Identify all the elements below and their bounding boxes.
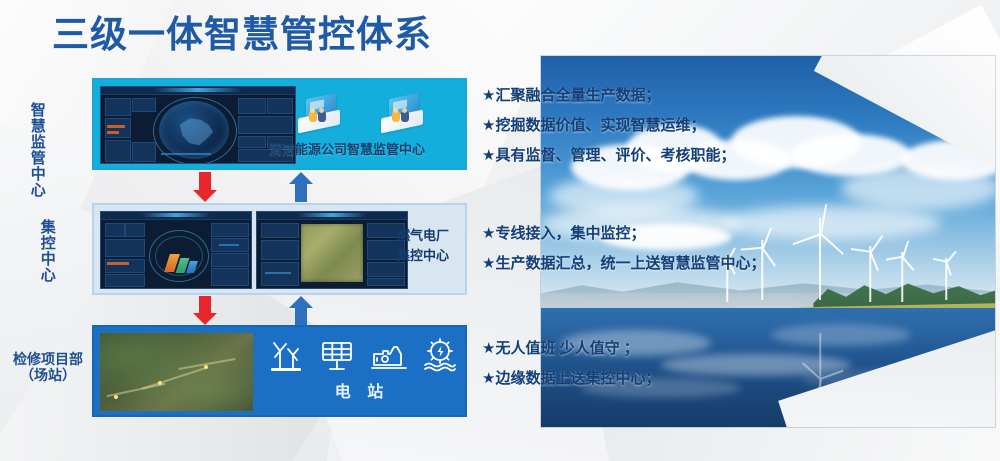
operator-workstation-illustration — [296, 96, 342, 130]
bullet-item: ★专线接入，集中监控； — [482, 226, 765, 241]
bullet-item: ★汇聚融合全量生产数据； — [482, 88, 735, 103]
solar-panel-icon — [317, 335, 359, 375]
wind-turbine-icon — [266, 335, 308, 375]
photo-turbine — [803, 204, 837, 300]
row-supervision-caption: 清洁能源公司智慧监管中心 — [252, 139, 442, 158]
stage-label-control: 集控中心 — [38, 212, 55, 290]
down-arrow-1 — [193, 172, 217, 202]
stage-label-supervision: 智慧监管中心 — [28, 85, 45, 215]
photo-turbine — [891, 240, 913, 302]
thermal-plant-icon — [369, 335, 411, 375]
stage-label-maintenance-line1: 检修项目部 — [2, 352, 94, 368]
row-control-caption-line1: 燃气电厂 — [380, 226, 466, 246]
up-arrow-1 — [289, 172, 313, 202]
up-arrow-2 — [289, 296, 313, 325]
bullet-item: ★无人值班 少人值守 ； — [482, 341, 660, 356]
row-control-caption: 燃气电厂 集控中心 — [380, 226, 466, 265]
bullet-item: ★挖掘数据价值、实现智慧运维； — [482, 118, 735, 133]
row-station-panel — [92, 325, 467, 417]
bullet-block-station: ★无人值班 少人值守 ； ★边缘数据上送集控中心； — [482, 341, 660, 401]
down-arrow-2 — [193, 296, 217, 325]
bullet-block-control: ★专线接入，集中监控； ★生产数据汇总，统一上送智慧监管中心； — [482, 226, 765, 286]
bullet-block-supervision: ★汇聚融合全量生产数据； ★挖掘数据价值、实现智慧运维； ★具有监督、管理、评价… — [482, 88, 735, 178]
stage-label-maintenance-line2: （场站） — [2, 368, 94, 384]
satellite-terrain-view[interactable] — [99, 332, 254, 412]
hydro-power-icon — [420, 335, 462, 375]
photo-turbine — [857, 232, 883, 302]
page-title: 三级一体智慧管控体系 — [52, 16, 432, 53]
row-station-caption: 电 站 — [264, 378, 460, 402]
bullet-item: ★生产数据汇总，统一上送智慧监管中心； — [482, 256, 765, 271]
bullet-item: ★具有监督、管理、评价、考核职能； — [482, 148, 735, 163]
bullet-item: ★边缘数据上送集控中心； — [482, 371, 660, 386]
photo-turbine — [937, 248, 955, 300]
stage-label-maintenance: 检修项目部 （场站） — [2, 352, 94, 383]
row-control-caption-line2: 集控中心 — [380, 246, 466, 266]
plant-control-dashboard[interactable] — [100, 211, 252, 289]
operator-workstation-illustration — [379, 96, 425, 130]
station-type-icons — [266, 333, 462, 377]
